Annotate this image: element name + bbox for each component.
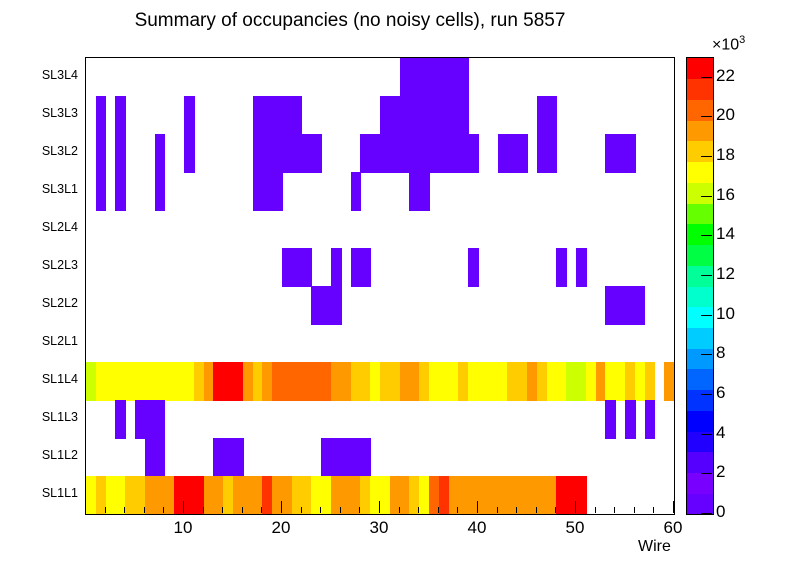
- colorbar-tick: [701, 473, 712, 474]
- x-axis-minor-tick: [516, 507, 517, 513]
- colorbar-tick: [701, 156, 712, 157]
- colorbar-tick: [701, 196, 712, 197]
- colorbar-step: [687, 99, 713, 120]
- heatmap-cell: [360, 248, 371, 287]
- heatmap-cell: [115, 134, 126, 173]
- colorbar-step: [687, 452, 713, 473]
- x-axis-minor-tick: [555, 507, 556, 513]
- x-axis-major-tick: [281, 501, 282, 513]
- x-axis-minor-tick: [340, 507, 341, 513]
- x-axis-minor-tick: [457, 507, 458, 513]
- colorbar-tick-label: 14: [716, 224, 735, 244]
- heatmap-cell: [468, 134, 479, 173]
- colorbar-step: [687, 203, 713, 224]
- colorbar-step: [687, 245, 713, 266]
- heatmap-cell: [184, 96, 195, 135]
- colorbar-tick-label: 2: [716, 462, 725, 482]
- heatmap-cell: [184, 134, 195, 173]
- x-axis-minor-tick: [438, 507, 439, 513]
- x-axis-label: 40: [452, 518, 502, 538]
- y-axis-label-sl2l3: SL2L3: [20, 258, 78, 272]
- heatmap-cell: [625, 400, 636, 439]
- heatmap-cell: [331, 286, 342, 325]
- heatmap-cell: [96, 96, 107, 135]
- y-axis-label-sl3l4: SL3L4: [20, 68, 78, 82]
- colorbar-tick-label: 18: [716, 145, 735, 165]
- x-axis-minor-tick: [497, 507, 498, 513]
- colorbar-step: [687, 390, 713, 411]
- heatmap-cell: [155, 438, 166, 477]
- colorbar-tick-label: 20: [716, 105, 735, 125]
- heatmap-cell: [625, 134, 636, 173]
- colorbar-tick-label: 0: [716, 502, 725, 522]
- x-axis-major-tick: [575, 501, 576, 513]
- x-axis-minor-tick: [203, 507, 204, 513]
- heatmap-cell: [115, 96, 126, 135]
- colorbar-multiplier: ×103: [712, 34, 745, 54]
- heatmap-cell: [547, 134, 558, 173]
- y-axis-label-sl3l3: SL3L3: [20, 106, 78, 120]
- x-axis-major-tick: [477, 501, 478, 513]
- colorbar-step: [687, 327, 713, 348]
- x-axis-label: 30: [354, 518, 404, 538]
- colorbar-tick-label: 4: [716, 423, 725, 443]
- y-axis-label-sl1l3: SL1L3: [20, 410, 78, 424]
- colorbar-tick: [701, 354, 712, 355]
- colorbar-step: [687, 182, 713, 203]
- colorbar-tick: [701, 394, 712, 395]
- heatmap-cell: [556, 248, 567, 287]
- heatmap-cell: [645, 362, 656, 401]
- x-axis-minor-tick: [320, 507, 321, 513]
- heatmap-cell: [351, 172, 362, 211]
- x-axis-minor-tick: [418, 507, 419, 513]
- colorbar-step: [687, 162, 713, 183]
- colorbar-tick: [701, 77, 712, 78]
- x-axis-major-tick: [183, 501, 184, 513]
- x-axis-major-tick: [379, 501, 380, 513]
- colorbar-tick: [701, 275, 712, 276]
- heatmap-cell: [576, 476, 587, 514]
- plot-frame[interactable]: [85, 57, 675, 515]
- page-title: Summary of occupancies (no noisy cells),…: [0, 10, 700, 32]
- heatmap-cell: [302, 248, 313, 287]
- heatmap-cell: [635, 286, 646, 325]
- x-axis-minor-tick: [634, 507, 635, 513]
- colorbar-step: [687, 120, 713, 141]
- x-axis-title: Wire: [638, 538, 671, 556]
- colorbar-step: [687, 493, 713, 514]
- heatmap-cell: [233, 438, 244, 477]
- x-axis-minor-tick: [301, 507, 302, 513]
- x-axis-minor-tick: [653, 507, 654, 513]
- x-axis-minor-tick: [124, 507, 125, 513]
- x-axis-minor-tick: [261, 507, 262, 513]
- colorbar-tick: [701, 116, 712, 117]
- heatmap-cell: [331, 248, 342, 287]
- heatmap-cell: [664, 362, 674, 401]
- heatmap-cell: [576, 248, 587, 287]
- colorbar-tick-label: 22: [716, 66, 735, 86]
- colorbar-step: [687, 473, 713, 494]
- x-axis-minor-tick: [242, 507, 243, 513]
- colorbar-tick-label: 10: [716, 304, 735, 324]
- heatmap-cell: [468, 248, 479, 287]
- y-axis-label-sl2l4: SL2L4: [20, 220, 78, 234]
- colorbar-multiplier-exponent: 3: [739, 34, 745, 46]
- y-axis-label-sl3l1: SL3L1: [20, 182, 78, 196]
- x-axis-minor-tick: [595, 507, 596, 513]
- colorbar-step: [687, 348, 713, 369]
- x-axis-minor-tick: [144, 507, 145, 513]
- heatmap-cell: [115, 172, 126, 211]
- y-axis-label-sl1l4: SL1L4: [20, 372, 78, 386]
- y-axis-label-sl2l1: SL2L1: [20, 334, 78, 348]
- heatmap-cell: [272, 172, 283, 211]
- x-axis-minor-tick: [614, 507, 615, 513]
- x-axis-minor-tick: [399, 507, 400, 513]
- colorbar-tick: [701, 235, 712, 236]
- heatmap-cell: [360, 438, 371, 477]
- x-axis-major-tick: [673, 501, 674, 513]
- x-axis-minor-tick: [536, 507, 537, 513]
- x-axis-minor-tick: [105, 507, 106, 513]
- colorbar-tick-label: 8: [716, 343, 725, 363]
- heatmap-cell: [155, 172, 166, 211]
- heatmap-cell: [96, 172, 107, 211]
- colorbar-step: [687, 410, 713, 431]
- heatmap-cell: [292, 96, 303, 135]
- y-axis-label-sl1l1: SL1L1: [20, 486, 78, 500]
- colorbar-tick: [701, 434, 712, 435]
- y-axis-label-sl1l2: SL1L2: [20, 448, 78, 462]
- y-axis-label-sl3l2: SL3L2: [20, 144, 78, 158]
- x-axis-label: 20: [256, 518, 306, 538]
- colorbar-tick: [701, 513, 712, 514]
- colorbar-step: [687, 307, 713, 328]
- heatmap-cell: [115, 400, 126, 439]
- heatmap-cell: [517, 134, 528, 173]
- colorbar-step: [687, 286, 713, 307]
- x-axis-minor-tick: [163, 507, 164, 513]
- x-axis-label: 50: [550, 518, 600, 538]
- colorbar-tick-label: 6: [716, 383, 725, 403]
- heatmap-cell: [458, 96, 469, 135]
- colorbar[interactable]: [686, 57, 714, 515]
- heatmap-cell: [645, 400, 656, 439]
- heatmap-cell: [311, 134, 322, 173]
- x-axis-label: 60: [648, 518, 698, 538]
- x-axis-minor-tick: [359, 507, 360, 513]
- heatmap-cell: [155, 134, 166, 173]
- y-axis-label-sl2l2: SL2L2: [20, 296, 78, 310]
- heatmap-cell: [96, 134, 107, 173]
- heatmap-cell: [458, 58, 469, 97]
- heatmap-cell: [547, 96, 558, 135]
- heatmap-cells: [86, 58, 674, 514]
- colorbar-step: [687, 141, 713, 162]
- colorbar-multiplier-base: ×10: [712, 36, 739, 53]
- colorbar-tick-label: 16: [716, 185, 735, 205]
- colorbar-step: [687, 79, 713, 100]
- colorbar-tick-label: 12: [716, 264, 735, 284]
- colorbar-step: [687, 369, 713, 390]
- x-axis-label: 10: [158, 518, 208, 538]
- x-axis-minor-tick: [222, 507, 223, 513]
- heatmap-cell: [155, 400, 166, 439]
- heatmap-cell: [605, 400, 616, 439]
- root-canvas: Summary of occupancies (no noisy cells),…: [0, 0, 796, 572]
- colorbar-tick: [701, 315, 712, 316]
- heatmap-cell: [419, 172, 430, 211]
